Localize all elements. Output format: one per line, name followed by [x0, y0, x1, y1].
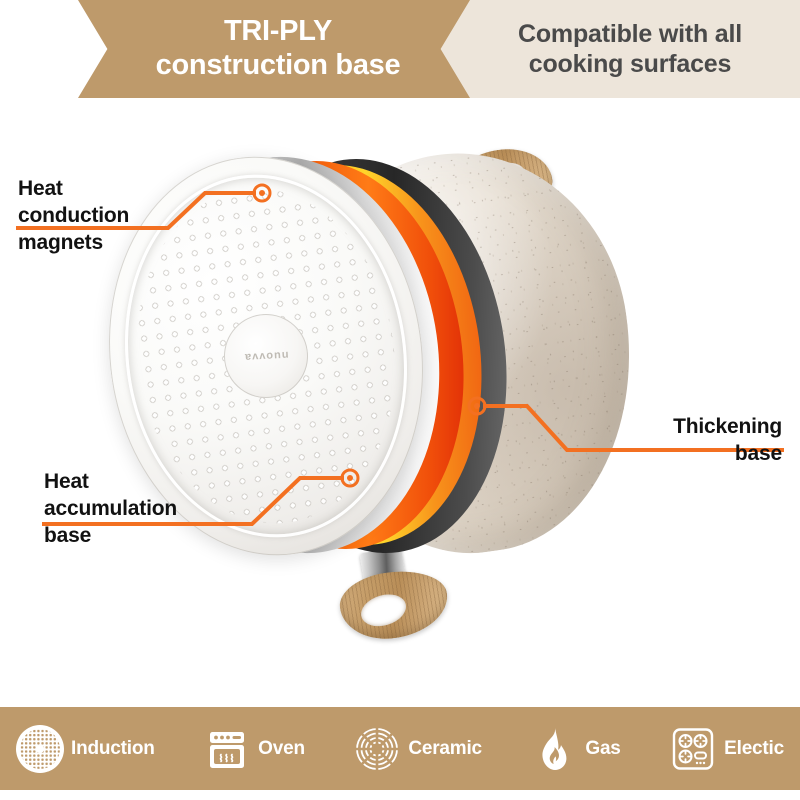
- footer-item-induction: Induction: [16, 725, 155, 773]
- annotation-label-thickening-base: Thickening base: [494, 414, 782, 468]
- induction-icon: [16, 725, 64, 773]
- footer-item-oven: Oven: [203, 725, 305, 773]
- header-banner: TRI-PLY construction base Compatible wit…: [0, 0, 800, 98]
- oven-icon: [203, 725, 251, 773]
- footer-item-ceramic: Ceramic: [353, 725, 482, 773]
- base-brand-mark: nuovva: [243, 349, 288, 363]
- electric-stovetop-icon: [669, 725, 717, 773]
- footer-label-electric: Electic: [724, 738, 784, 760]
- header-left-title-line2: construction base: [156, 49, 401, 83]
- annotation-label-heat-conduction-magnets: Heat conduction magnets: [18, 176, 129, 257]
- footer-label-ceramic: Ceramic: [408, 738, 482, 760]
- handle-hole-bottom: [357, 589, 410, 631]
- footer-item-electric: Electic: [669, 725, 784, 773]
- footer-label-gas: Gas: [585, 738, 620, 760]
- header-right-title-line2: cooking surfaces: [529, 49, 731, 79]
- handle-wood-bottom: [336, 566, 451, 645]
- infographic-root: TRI-PLY construction base Compatible wit…: [0, 0, 800, 800]
- footer-label-oven: Oven: [258, 738, 305, 760]
- header-right-title-line1: Compatible with all: [518, 19, 742, 49]
- pot-handle-bottom: [330, 550, 460, 650]
- footer-label-induction: Induction: [71, 738, 155, 760]
- header-left-title: TRI-PLY construction base: [118, 0, 438, 98]
- header-left-title-line1: TRI-PLY: [224, 15, 332, 49]
- compatibility-footer: Induction Ove: [0, 707, 800, 790]
- product-illustration: nuovva Heat: [0, 98, 800, 707]
- ceramic-icon: [353, 725, 401, 773]
- gas-flame-icon: [530, 725, 578, 773]
- annotation-label-heat-accumulation-base: Heat accumulation base: [44, 469, 177, 550]
- header-right-title: Compatible with all cooking surfaces: [470, 0, 790, 98]
- footer-item-gas: Gas: [530, 725, 620, 773]
